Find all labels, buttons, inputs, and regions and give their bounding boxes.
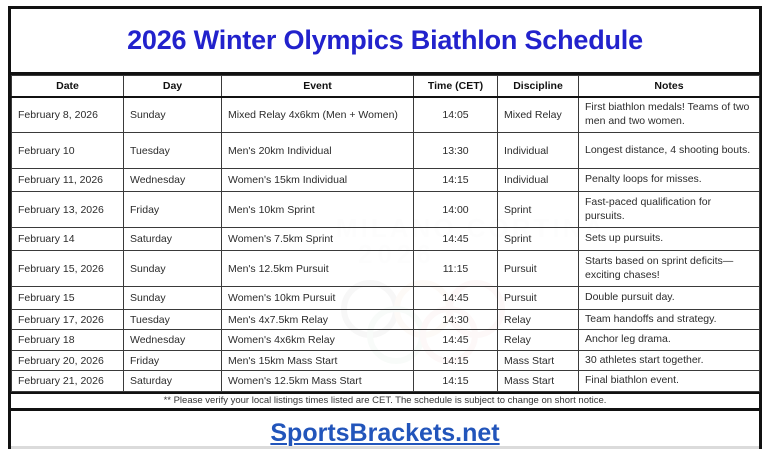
cell-date: February 17, 2026 (12, 310, 124, 330)
cell-day: Saturday (124, 228, 222, 251)
cell-day: Friday (124, 192, 222, 228)
cell-time: 14:45 (414, 330, 498, 350)
cell-event: Women's 4x6km Relay (222, 330, 414, 350)
cell-notes: Anchor leg drama. (579, 330, 760, 350)
brand-band: SportsBrackets.net (11, 411, 759, 457)
table-row: February 13, 2026 Friday Men's 10km Spri… (12, 192, 760, 228)
cell-day: Sunday (124, 97, 222, 133)
cell-date: February 14 (12, 228, 124, 251)
cell-notes: Final biathlon event. (579, 371, 760, 391)
cell-date: February 11, 2026 (12, 169, 124, 192)
cell-discipline: Pursuit (498, 251, 579, 287)
footnote-text: ** Please verify your local listings tim… (164, 395, 607, 406)
cell-day: Wednesday (124, 169, 222, 192)
cell-notes: Starts based on sprint deficits—exciting… (579, 251, 760, 287)
column-header-event[interactable]: Event (222, 76, 414, 97)
cell-event: Men's 10km Sprint (222, 192, 414, 228)
cell-date: February 15, 2026 (12, 251, 124, 287)
table-row: February 15, 2026 Sunday Men's 12.5km Pu… (12, 251, 760, 287)
cell-event: Men's 20km Individual (222, 133, 414, 169)
cell-time: 14:45 (414, 228, 498, 251)
table-row: February 15 Sunday Women's 10km Pursuit … (12, 287, 760, 310)
table-row: February 20, 2026 Friday Men's 15km Mass… (12, 350, 760, 370)
cell-time: 14:05 (414, 97, 498, 133)
table-row: February 10 Tuesday Men's 20km Individua… (12, 133, 760, 169)
table-row: February 8, 2026 Sunday Mixed Relay 4x6k… (12, 97, 760, 133)
cell-time: 14:15 (414, 169, 498, 192)
cell-discipline: Mass Start (498, 371, 579, 391)
cell-discipline: Mass Start (498, 350, 579, 370)
cell-time: 14:15 (414, 350, 498, 370)
table-header-row: Date Day Event Time (CET) Discipline Not… (12, 76, 760, 97)
cell-notes: Sets up pursuits. (579, 228, 760, 251)
cell-date: February 20, 2026 (12, 350, 124, 370)
column-header-notes[interactable]: Notes (579, 76, 760, 97)
cell-date: February 21, 2026 (12, 371, 124, 391)
cell-day: Sunday (124, 251, 222, 287)
cell-time: 14:30 (414, 310, 498, 330)
column-header-time[interactable]: Time (CET) (414, 76, 498, 97)
schedule-table-body: February 8, 2026 Sunday Mixed Relay 4x6k… (12, 97, 760, 392)
schedule-table: Date Day Event Time (CET) Discipline Not… (11, 75, 760, 392)
footnote-band: ** Please verify your local listings tim… (11, 392, 759, 411)
cell-notes: Team handoffs and strategy. (579, 310, 760, 330)
cell-date: February 8, 2026 (12, 97, 124, 133)
cell-event: Women's 10km Pursuit (222, 287, 414, 310)
cell-day: Tuesday (124, 133, 222, 169)
cell-event: Women's 15km Individual (222, 169, 414, 192)
cell-discipline: Sprint (498, 228, 579, 251)
cell-discipline: Sprint (498, 192, 579, 228)
cell-event: Men's 4x7.5km Relay (222, 310, 414, 330)
cell-date: February 13, 2026 (12, 192, 124, 228)
table-row: February 14 Saturday Women's 7.5km Sprin… (12, 228, 760, 251)
cell-discipline: Mixed Relay (498, 97, 579, 133)
schedule-page: MILANO CORTINA 2026 2026 Winter Olympics… (0, 0, 774, 459)
cell-discipline: Pursuit (498, 287, 579, 310)
cell-time: 13:30 (414, 133, 498, 169)
table-row: February 21, 2026 Saturday Women's 12.5k… (12, 371, 760, 391)
cell-notes: Penalty loops for misses. (579, 169, 760, 192)
cell-date: February 15 (12, 287, 124, 310)
cell-notes: First biathlon medals! Teams of two men … (579, 97, 760, 133)
brand-link[interactable]: SportsBrackets.net (270, 419, 499, 448)
cell-discipline: Individual (498, 169, 579, 192)
cell-day: Sunday (124, 287, 222, 310)
cell-event: Women's 7.5km Sprint (222, 228, 414, 251)
cell-time: 11:15 (414, 251, 498, 287)
cell-date: February 10 (12, 133, 124, 169)
cell-day: Wednesday (124, 330, 222, 350)
cell-day: Saturday (124, 371, 222, 391)
cell-time: 14:45 (414, 287, 498, 310)
cell-notes: Longest distance, 4 shooting bouts. (579, 133, 760, 169)
page-title: 2026 Winter Olympics Biathlon Schedule (127, 25, 643, 56)
cell-event: Women's 12.5km Mass Start (222, 371, 414, 391)
cell-notes: 30 athletes start together. (579, 350, 760, 370)
cell-event: Men's 15km Mass Start (222, 350, 414, 370)
cell-date: February 18 (12, 330, 124, 350)
cell-event: Men's 12.5km Pursuit (222, 251, 414, 287)
cell-day: Friday (124, 350, 222, 370)
table-row: February 17, 2026 Tuesday Men's 4x7.5km … (12, 310, 760, 330)
cell-notes: Fast-paced qualification for pursuits. (579, 192, 760, 228)
cell-time: 14:15 (414, 371, 498, 391)
schedule-frame: 2026 Winter Olympics Biathlon Schedule D… (8, 6, 762, 449)
cell-time: 14:00 (414, 192, 498, 228)
cell-notes: Double pursuit day. (579, 287, 760, 310)
cell-discipline: Relay (498, 310, 579, 330)
cell-day: Tuesday (124, 310, 222, 330)
cell-discipline: Individual (498, 133, 579, 169)
title-band: 2026 Winter Olympics Biathlon Schedule (11, 9, 759, 75)
column-header-discipline[interactable]: Discipline (498, 76, 579, 97)
table-row: February 18 Wednesday Women's 4x6km Rela… (12, 330, 760, 350)
cell-discipline: Relay (498, 330, 579, 350)
column-header-day[interactable]: Day (124, 76, 222, 97)
table-row: February 11, 2026 Wednesday Women's 15km… (12, 169, 760, 192)
cell-event: Mixed Relay 4x6km (Men + Women) (222, 97, 414, 133)
column-header-date[interactable]: Date (12, 76, 124, 97)
